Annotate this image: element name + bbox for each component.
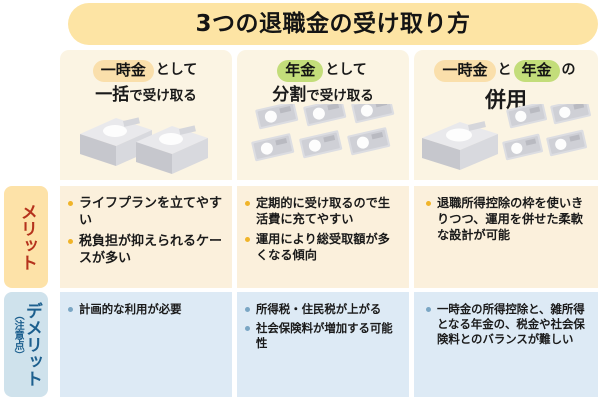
merit-cell-lump-sum: ライフプランを立てやすい 税負担が抑えられるケースが多い <box>60 186 232 288</box>
demerit-cell-pension: 所得税・住民税が上がる 社会保険料が増加する可能性 <box>237 292 409 397</box>
chip-pension: 年金 <box>277 60 323 82</box>
page-title-banner: 3つの退職金の受け取り方 <box>68 3 598 45</box>
row-label-merit: メリット <box>4 186 48 288</box>
column-header-lump-sum: 一時金として 一括で受け取る <box>60 50 232 180</box>
header-conjunction-2: の <box>560 62 578 78</box>
merit-list: ライフプランを立てやすい 税負担が抑えられるケースが多い <box>68 196 224 268</box>
merit-list: 退職所得控除の枠を使いきりつつ、運用を併せた柔軟な設計が可能 <box>426 196 590 244</box>
list-item: 一時金の所得控除と、雑所得となる年金の、税金や社会保険料とのバランスが難しい <box>426 302 590 346</box>
column-header-pension: 年金として 分割で受け取る <box>237 50 409 180</box>
row-label-demerit: デメリット （注意点） <box>4 292 48 397</box>
header-keyword: 分割 <box>272 85 306 105</box>
header-line-1: 一時金と年金の <box>414 60 598 82</box>
merit-list: 定期的に受け取るので生活費に充てやすい 運用により総受取額が多くなる傾向 <box>245 196 401 263</box>
header-conjunction-1: と <box>496 62 514 78</box>
merit-cell-combination: 退職所得控除の枠を使いきりつつ、運用を併せた柔軟な設計が可能 <box>414 186 598 288</box>
demerit-cell-combination: 一時金の所得控除と、雑所得となる年金の、税金や社会保険料とのバランスが難しい <box>414 292 598 397</box>
header-keyword-suffix: で受け取る <box>129 88 197 104</box>
row-label-demerit-text: デメリット <box>22 302 40 387</box>
header-line-2: 分割で受け取る <box>237 85 409 106</box>
list-item: 計画的な利用が必要 <box>68 302 224 317</box>
header-conjunction: として <box>154 62 200 78</box>
header-keyword-suffix: で受け取る <box>306 88 374 104</box>
cash-bundles-icon <box>60 104 232 176</box>
header-line-1: 一時金として <box>60 60 232 82</box>
header-line-2: 一括で受け取る <box>60 85 232 106</box>
cash-bills-grid-icon <box>237 104 409 176</box>
cash-bundle-and-bills-icon <box>414 104 598 176</box>
page-title: 3つの退職金の受け取り方 <box>195 13 470 36</box>
header-conjunction: として <box>323 62 369 78</box>
list-item: ライフプランを立てやすい <box>68 196 224 230</box>
chip-lump-sum: 一時金 <box>93 60 154 82</box>
chip-lump-sum: 一時金 <box>434 60 495 82</box>
demerit-list: 一時金の所得控除と、雑所得となる年金の、税金や社会保険料とのバランスが難しい <box>426 302 590 346</box>
list-item: 社会保険料が増加する可能性 <box>245 321 401 351</box>
column-header-combination: 一時金と年金の 併用 <box>414 50 598 180</box>
list-item: 税負担が抑えられるケースが多い <box>68 234 224 268</box>
list-item: 運用により総受取額が多くなる傾向 <box>245 232 401 264</box>
chip-pension: 年金 <box>514 60 560 82</box>
list-item: 退職所得控除の枠を使いきりつつ、運用を併せた柔軟な設計が可能 <box>426 196 590 244</box>
list-item: 所得税・住民税が上がる <box>245 302 401 317</box>
row-label-merit-text: メリット <box>17 203 35 271</box>
demerit-list: 計画的な利用が必要 <box>68 302 224 317</box>
header-line-1: 年金として <box>237 60 409 82</box>
demerit-cell-lump-sum: 計画的な利用が必要 <box>60 292 232 397</box>
demerit-list: 所得税・住民税が上がる 社会保険料が増加する可能性 <box>245 302 401 350</box>
row-label-demerit-note: （注意点） <box>12 310 22 360</box>
header-keyword: 一括 <box>95 85 129 105</box>
merit-cell-pension: 定期的に受け取るので生活費に充てやすい 運用により総受取額が多くなる傾向 <box>237 186 409 288</box>
list-item: 定期的に受け取るので生活費に充てやすい <box>245 196 401 228</box>
